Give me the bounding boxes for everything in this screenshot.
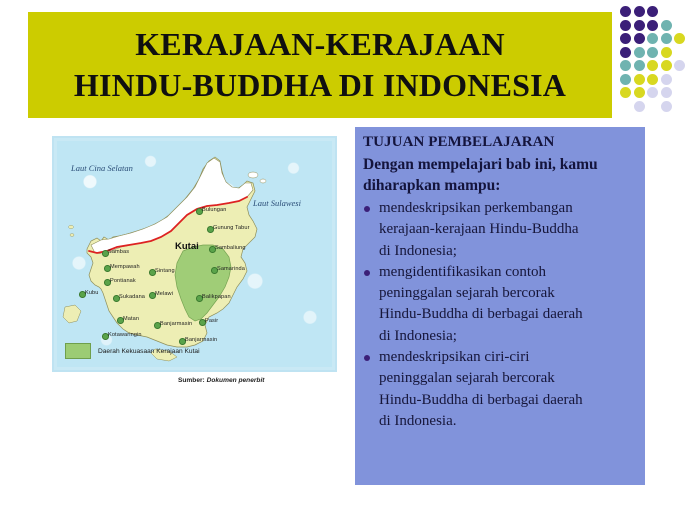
decorative-dot	[634, 87, 645, 98]
map-sea-background: Kutai Laut Cina Selatan Laut Sulawesi Sa…	[57, 141, 332, 367]
objectives-item-line: peninggalan sejarah bercorak	[379, 368, 637, 389]
objectives-heading: TUJUAN PEMBELAJARAN	[363, 133, 637, 153]
decorative-dot	[634, 20, 645, 31]
decorative-dot	[647, 87, 658, 98]
map-island-southwest	[63, 305, 81, 323]
decorative-dot	[661, 74, 672, 85]
map-city-label: Matan	[123, 316, 139, 322]
decorative-dot	[634, 47, 645, 58]
bullet-icon	[364, 355, 370, 361]
decorative-dot	[661, 33, 672, 44]
decorative-dot	[620, 60, 631, 71]
decorative-dot	[620, 20, 631, 31]
map-source-lead: Sumber:	[178, 377, 205, 384]
decorative-dot	[674, 33, 685, 44]
map-city-label: Mempawah	[110, 264, 140, 270]
bullet-icon	[364, 270, 370, 276]
map-city-label: Pontianak	[110, 278, 136, 284]
decorative-dot	[647, 47, 658, 58]
objectives-list-item: mendeskripsikan ciri-ciripeninggalan sej…	[363, 347, 637, 432]
decorative-dot	[647, 6, 658, 17]
map-city-label: Melawi	[155, 291, 173, 297]
decorative-dot	[661, 20, 672, 31]
decorative-dot	[661, 87, 672, 98]
decorative-dot	[634, 101, 645, 112]
map-source-text: Dokumen penerbit	[207, 377, 265, 384]
decorative-dot	[634, 74, 645, 85]
map-city-label: Bulungan	[202, 207, 226, 213]
objectives-item-line: mendeskripsikan perkembangan	[379, 198, 637, 219]
map-island-2	[260, 179, 266, 183]
map-city-label: Kotawaringin	[108, 332, 142, 338]
map-source-caption: Sumber: Dokumen penerbit	[178, 377, 264, 384]
objectives-item-line: mengidentifikasikan contoh	[379, 262, 637, 283]
page-title-line-1: KERAJAAN-KERAJAAN	[135, 24, 505, 65]
objectives-item-line: mendeskripsikan ciri-ciri	[379, 347, 637, 368]
map-island-1	[248, 172, 258, 178]
page-title-line-2: HINDU-BUDDHA DI INDONESIA	[74, 65, 566, 106]
map-city-label: Samarinda	[217, 266, 245, 272]
objectives-item-line: Hindu-Buddha di berbagai daerah	[379, 390, 637, 411]
objectives-panel: TUJUAN PEMBELAJARAN Dengan mempelajari b…	[355, 127, 645, 485]
objectives-item-line: di Indonesia;	[379, 241, 637, 262]
decorative-dot	[647, 20, 658, 31]
decorative-dot	[661, 47, 672, 58]
map-city-label: Sambas	[108, 249, 129, 255]
objectives-item-line: kerajaan-kerajaan Hindu-Buddha	[379, 219, 637, 240]
decorative-dot	[620, 33, 631, 44]
dot-grid-decoration	[620, 6, 690, 116]
map-city-label: Gunung Tabur	[213, 225, 250, 231]
map-sea-label-laut-sulawesi: Laut Sulawesi	[253, 198, 301, 208]
map-city-label: Sukadana	[119, 294, 145, 300]
map-city-label: Kubu	[85, 290, 98, 296]
decorative-dot	[661, 60, 672, 71]
decorative-dot	[634, 33, 645, 44]
objectives-intro: Dengan mempelajari bab ini, kamu diharap…	[363, 154, 637, 196]
decorative-dot	[620, 6, 631, 17]
map-city-label: Banjarmasin	[160, 321, 192, 327]
decorative-dot	[661, 101, 672, 112]
decorative-dot	[620, 47, 631, 58]
decorative-dot	[634, 60, 645, 71]
objectives-item-line: di Indonesia.	[379, 411, 637, 432]
map-legend-label: Daerah Kekuasaan Kerajaan Kutai	[98, 348, 200, 355]
title-banner: KERAJAAN-KERAJAAN HINDU-BUDDHA DI INDONE…	[28, 12, 612, 118]
decorative-dot	[647, 33, 658, 44]
decorative-dot	[620, 87, 631, 98]
objectives-item-line: Hindu-Buddha di berbagai daerah	[379, 304, 637, 325]
decorative-dot	[620, 74, 631, 85]
decorative-dot	[674, 60, 685, 71]
objectives-list: mendeskripsikan perkembangankerajaan-ker…	[361, 198, 637, 432]
bullet-icon	[364, 206, 370, 212]
objectives-intro-line-2: diharapkan mampu:	[363, 175, 637, 196]
objectives-item-line: di Indonesia;	[379, 326, 637, 347]
map-region-label-kutai: Kutai	[175, 241, 199, 252]
decorative-dot	[647, 60, 658, 71]
objectives-intro-line-1: Dengan mempelajari bab ini, kamu	[363, 154, 637, 175]
objectives-list-item: mendeskripsikan perkembangankerajaan-ker…	[363, 198, 637, 262]
map-panel: Kutai Laut Cina Selatan Laut Sulawesi Sa…	[52, 136, 337, 372]
objectives-list-item: mengidentifikasikan contohpeninggalan se…	[363, 262, 637, 347]
map-city-label: Sintang	[155, 268, 175, 274]
map-city-label: Sambaliung	[215, 245, 246, 251]
map-island-3	[69, 225, 74, 228]
decorative-dot	[634, 6, 645, 17]
decorative-dot	[647, 74, 658, 85]
map-city-label: Balikpapan	[202, 294, 231, 300]
map-sea-label-laut-cina-selatan: Laut Cina Selatan	[71, 163, 133, 173]
map-legend: Daerah Kekuasaan Kerajaan Kutai	[65, 343, 200, 359]
map-kalimantan-svg	[57, 141, 332, 367]
map-legend-swatch	[65, 343, 91, 359]
map-city-label: Pasir	[205, 318, 218, 324]
objectives-item-line: peninggalan sejarah bercorak	[379, 283, 637, 304]
map-island-4	[70, 234, 74, 237]
